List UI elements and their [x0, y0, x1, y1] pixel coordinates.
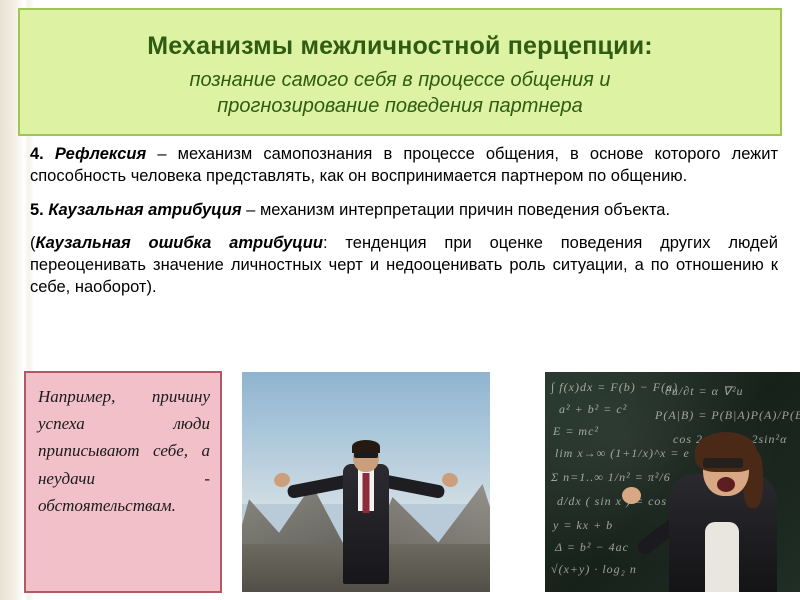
photo-woman-hand: [622, 487, 641, 504]
paragraph-attribution-text: – механизм интерпретации причин поведени…: [242, 201, 670, 219]
paragraph-reflection-term: Рефлексия: [55, 145, 146, 163]
photo-woman-mouth: [717, 477, 735, 492]
example-callout-text: Например, причину успеха люди приписываю…: [38, 383, 210, 519]
photo-woman-at-blackboard: ∫ f(x)dx = F(b) − F(a) a² + b² = c² E = …: [545, 372, 800, 592]
slide-title-box: Механизмы межличностной перцепции: позна…: [18, 8, 782, 136]
chalk-formula: Σ n=1..∞ 1/n² = π²/6: [551, 470, 671, 485]
eyeglasses-icon: [703, 458, 743, 468]
chalk-formula: ∂u/∂t = α ∇²u: [665, 384, 744, 399]
paragraph-reflection: 4. Рефлексия – механизм самопознания в п…: [30, 144, 778, 188]
paragraph-attribution: 5. Каузальная атрибуция – механизм интер…: [30, 200, 778, 222]
chalk-formula: ∫ f(x)dx = F(b) − F(a): [551, 380, 678, 395]
chalk-formula: √(x+y) · log₂ n: [551, 562, 637, 577]
page-title: Механизмы межличностной перцепции:: [20, 32, 780, 61]
paragraph-attribution-number: 5.: [30, 201, 44, 219]
photo-man-in-suit: [242, 372, 490, 592]
paragraph-attribution-term: Каузальная атрибуция: [48, 201, 241, 219]
page-subtitle-line-2: прогнозирование поведения партнера: [217, 95, 582, 117]
chalk-formula: a² + b² = c²: [559, 402, 627, 417]
page-subtitle: познание самого себя в процессе общения …: [20, 67, 780, 119]
bottom-media-row: Например, причину успеха люди приписываю…: [24, 371, 784, 593]
chalk-formula: E = mc²: [553, 424, 599, 439]
page-subtitle-line-1: познание самого себя в процессе общения …: [189, 69, 610, 91]
photo-man-tie: [363, 473, 370, 513]
paragraph-attribution-error-term: Каузальная ошибка атрибуции: [36, 234, 323, 252]
example-callout-box: Например, причину успеха люди приписываю…: [24, 371, 222, 593]
paragraph-attribution-error: (Каузальная ошибка атрибуции: тенденция …: [30, 233, 778, 298]
paragraph-reflection-number: 4.: [30, 145, 44, 163]
chalk-formula: lim x→∞ (1+1/x)^x = e: [555, 446, 690, 461]
sunglasses-icon: [354, 452, 378, 458]
chalk-formula: d/dx ( sin x ) = cos x: [557, 494, 677, 509]
photo-man-hair: [352, 440, 380, 453]
body-text-block: 4. Рефлексия – механизм самопознания в п…: [30, 144, 778, 299]
chalk-formula: P(A|B) = P(B|A)P(A)/P(B): [655, 408, 800, 423]
chalk-formula: y = kx + b: [553, 518, 613, 533]
photo-woman-blouse: [705, 522, 739, 592]
chalk-formula: Δ = b² − 4ac: [555, 540, 629, 555]
